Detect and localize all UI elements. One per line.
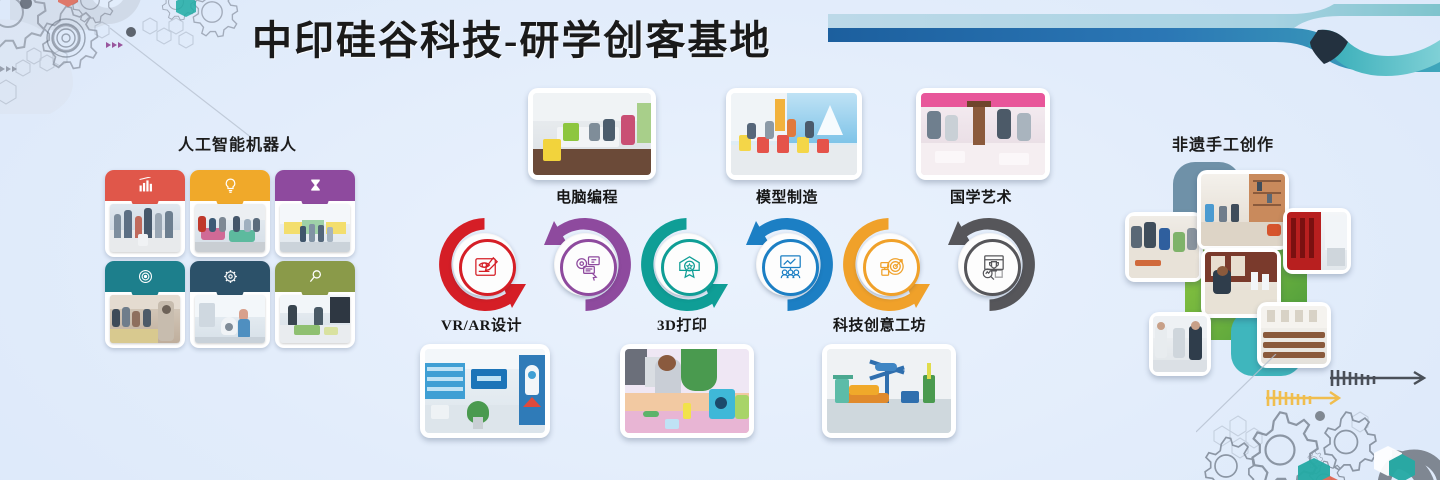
vr-design-icon [472,252,503,283]
node-inner-ring [964,239,1021,296]
lightbulb-icon [190,172,270,198]
photo-image [1201,174,1285,246]
photo-image [731,93,857,175]
process-circle-chain [432,212,1042,317]
card-photo [110,204,180,252]
chain-label-3dprint: 3D打印 [657,314,707,335]
node-inner-ring [459,239,516,296]
ai-robot-card-grid [105,170,365,355]
chain-node-3d-print[interactable] [634,212,739,317]
card-photo [280,295,350,343]
photo-image [1129,216,1199,278]
center-top-photo-3[interactable] [916,88,1050,180]
photo-card[interactable] [105,170,185,257]
photo-image [1261,306,1327,364]
card-photo [280,204,350,252]
chain-node-maker-workshop[interactable] [836,212,941,317]
node-inner-ring [560,239,617,296]
gear-icon [190,263,270,289]
page-title: 中印硅谷科技-研学创客基地 [252,8,812,66]
chain-label-model: 模型制造 [756,186,818,207]
chain-node-vr-design[interactable] [432,212,537,317]
heritage-photo-3[interactable] [1283,208,1351,274]
chain-label-workshop: 科技创意工坊 [833,314,926,335]
node-inner-ring [762,239,819,296]
photo-card[interactable] [105,261,185,348]
target-arrow-icon [876,252,907,283]
magnifier-icon [275,263,355,289]
chain-label-coding: 电脑编程 [556,186,618,207]
center-top-photo-2[interactable] [726,88,862,180]
right-section-heading: 非遗手工创作 [1172,131,1274,155]
arrow-decoration [1266,370,1424,406]
card-photo [195,204,265,252]
node-inner-ring [661,239,718,296]
photo-image [827,349,951,433]
coding-icon [573,252,604,283]
left-section-heading: 人工智能机器人 [178,131,297,155]
photo-card[interactable] [275,170,355,257]
photo-image [921,93,1045,175]
poster-canvas: 中印硅谷科技-研学创客基地 人工智能机器人 [0,0,1440,480]
heritage-photo-cluster [1105,160,1375,375]
trophy-screen-icon [977,252,1008,283]
photo-image [1153,316,1207,372]
heritage-photo-2[interactable] [1197,170,1289,250]
center-bottom-photo-2[interactable] [620,344,754,438]
center-bottom-photo-1[interactable] [420,344,550,438]
photo-card[interactable] [275,261,355,348]
target-icon [105,263,185,289]
photo-card[interactable] [190,261,270,348]
center-top-photo-1[interactable] [528,88,656,180]
chain-node-art[interactable] [937,212,1042,317]
photo-image [425,349,545,433]
heritage-photo-6[interactable] [1257,302,1331,368]
card-photo [110,295,180,343]
photo-image [625,349,749,433]
hourglass-icon [275,172,355,198]
chain-label-art: 国学艺术 [950,186,1012,207]
chain-node-model[interactable] [735,212,840,317]
chain-label-vr: VR/AR设计 [441,314,522,335]
card-photo [195,295,265,343]
gears-decoration-top-left [0,0,260,140]
photo-image [533,93,651,175]
photo-card[interactable] [190,170,270,257]
photo-image [1287,212,1347,270]
node-inner-ring [863,239,920,296]
team-board-icon [775,252,806,283]
badge-print-icon [674,252,705,283]
heritage-photo-5[interactable] [1149,312,1211,376]
center-bottom-photo-3[interactable] [822,344,956,438]
bar-chart-icon [105,172,185,198]
ribbon-banner [820,2,1440,76]
chain-node-coding[interactable] [533,212,638,317]
heritage-photo-1[interactable] [1125,212,1203,282]
